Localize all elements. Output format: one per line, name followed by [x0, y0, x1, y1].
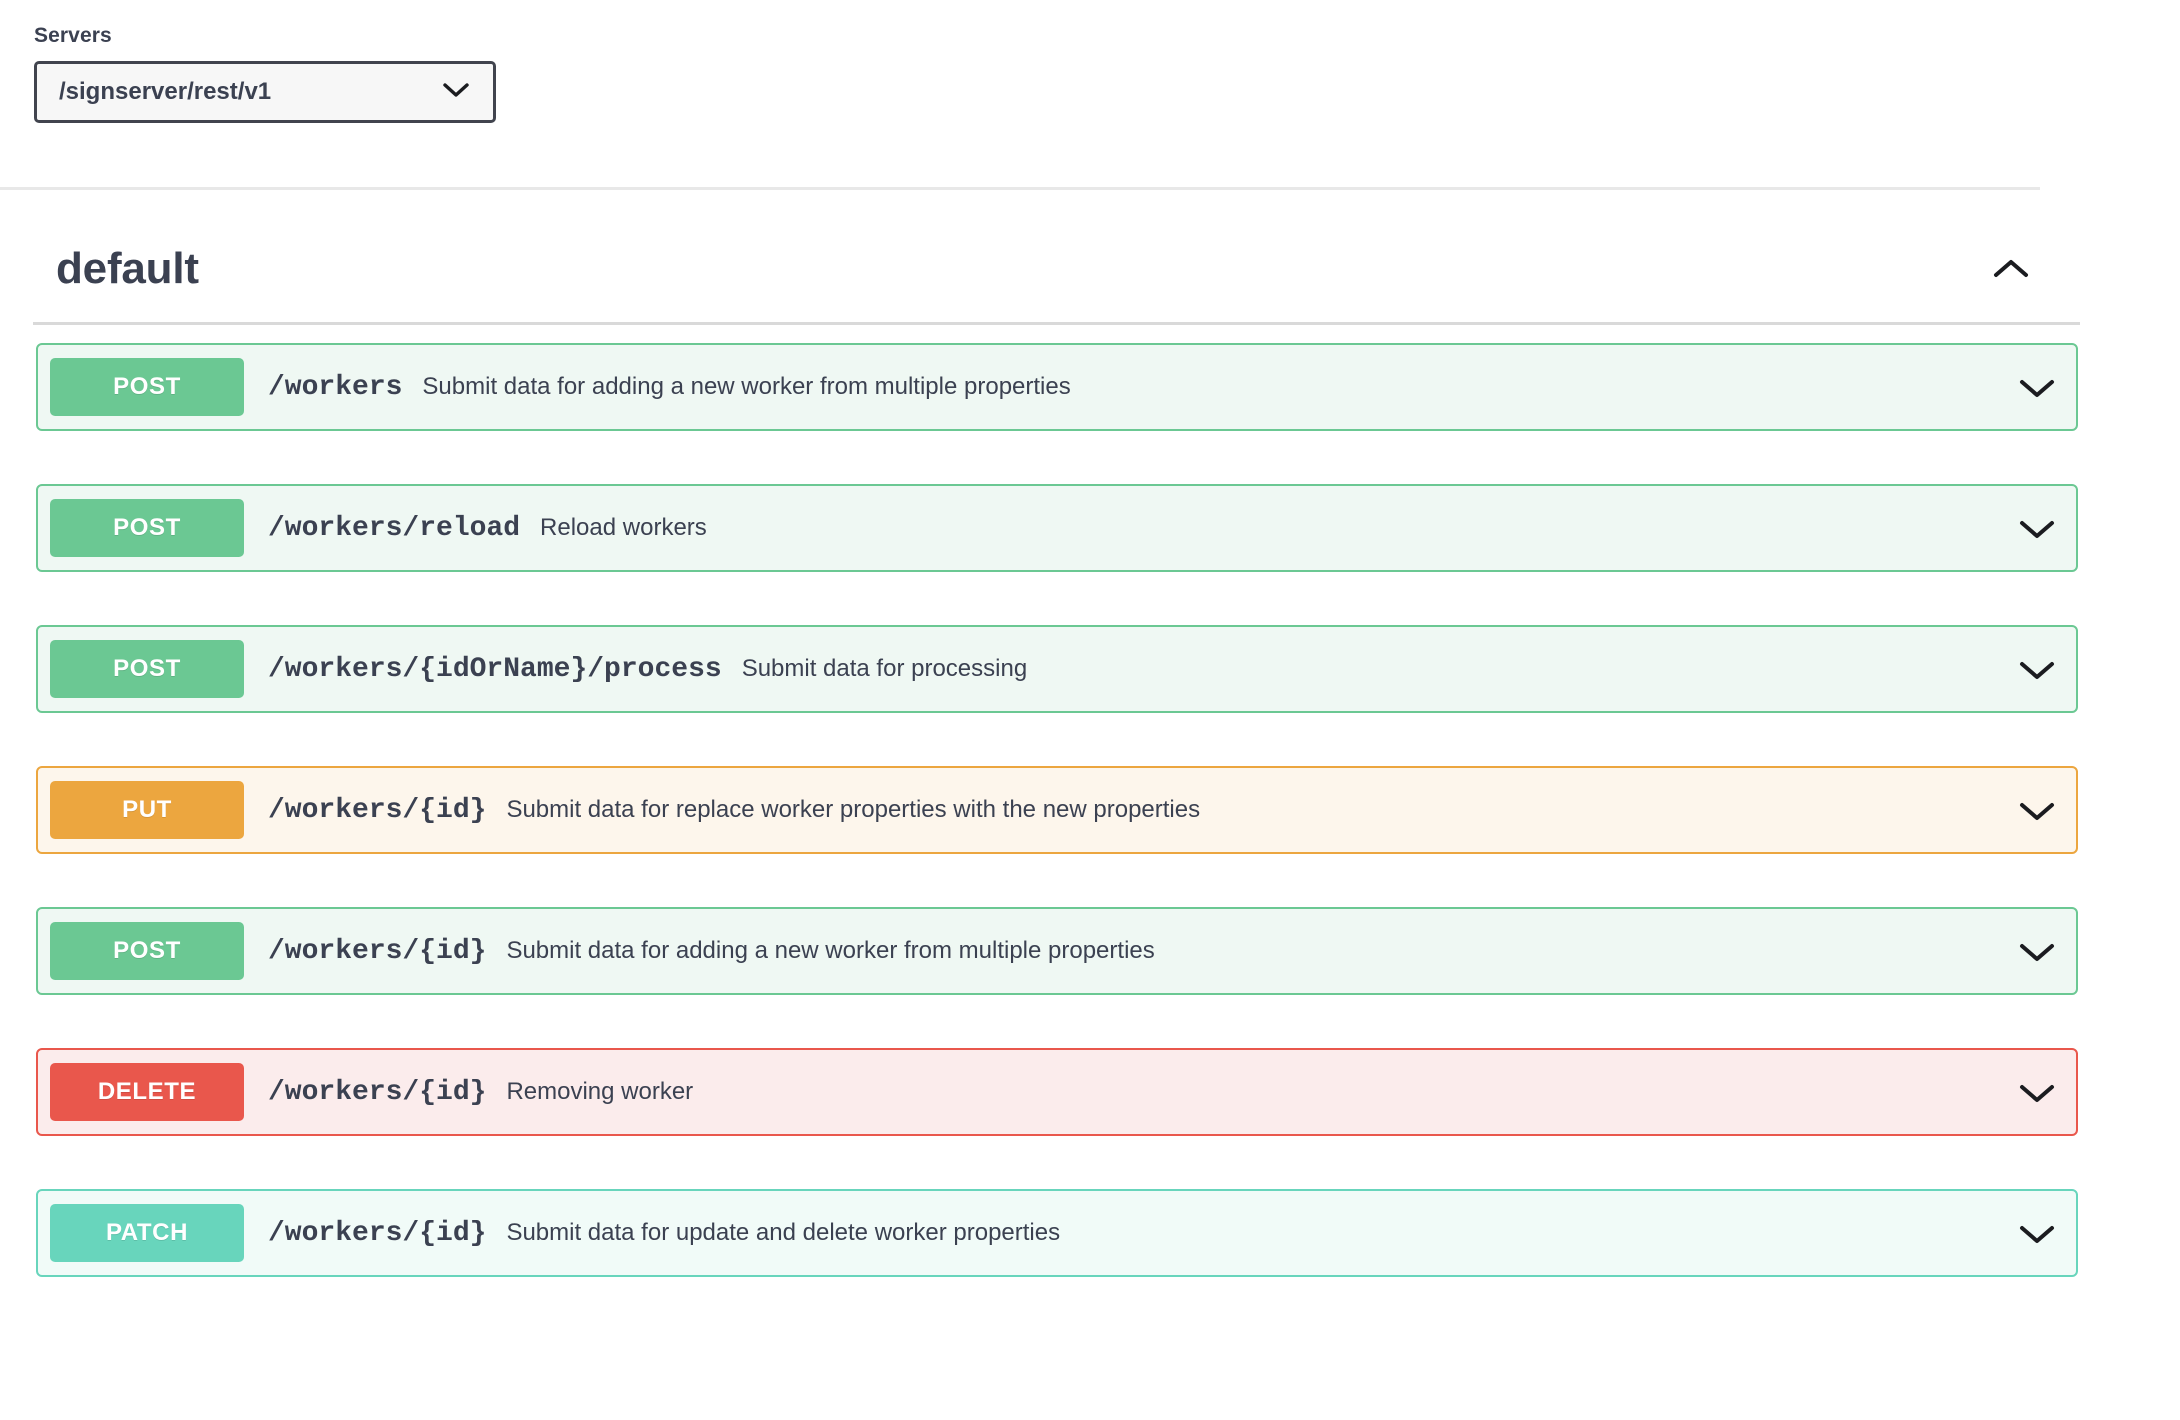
- chevron-up-icon[interactable]: [1974, 255, 2048, 283]
- operation-path: /workers/{id}: [268, 1218, 486, 1249]
- servers-label: Servers: [34, 24, 2180, 48]
- operation-row[interactable]: POST/workers/{id}Submit data for adding …: [36, 907, 2078, 995]
- chevron-down-icon[interactable]: [1998, 373, 2076, 401]
- operations-list: POST/workersSubmit data for adding a new…: [0, 325, 2180, 1277]
- chevron-down-icon[interactable]: [1998, 937, 2076, 965]
- servers-block: Servers /signserver/rest/v1: [0, 0, 2180, 123]
- chevron-down-icon: [441, 80, 471, 105]
- operation-path: /workers/{idOrName}/process: [268, 654, 722, 685]
- http-method-badge: POST: [50, 922, 244, 980]
- operation-summary: Submit data for processing: [742, 655, 1998, 683]
- operation-summary: Reload workers: [540, 514, 1998, 542]
- server-select-value: /signserver/rest/v1: [59, 78, 441, 106]
- chevron-down-icon[interactable]: [1998, 796, 2076, 824]
- chevron-down-icon[interactable]: [1998, 655, 2076, 683]
- tag-section-default: default POST/workersSubmit data for addi…: [0, 226, 2180, 1277]
- operation-row[interactable]: PATCH/workers/{id}Submit data for update…: [36, 1189, 2078, 1277]
- operation-summary: Removing worker: [506, 1078, 1998, 1106]
- operation-summary: Submit data for replace worker propertie…: [506, 796, 1998, 824]
- tag-section-header[interactable]: default: [0, 226, 2048, 312]
- operation-path: /workers/reload: [268, 513, 520, 544]
- operation-row[interactable]: POST/workers/{idOrName}/processSubmit da…: [36, 625, 2078, 713]
- chevron-down-icon[interactable]: [1998, 1078, 2076, 1106]
- operation-row[interactable]: POST/workers/reloadReload workers: [36, 484, 2078, 572]
- operation-summary: Submit data for adding a new worker from…: [422, 373, 1998, 401]
- operation-summary: Submit data for adding a new worker from…: [506, 937, 1998, 965]
- http-method-badge: PATCH: [50, 1204, 244, 1262]
- http-method-badge: PUT: [50, 781, 244, 839]
- tag-title: default: [56, 244, 1974, 294]
- operation-row[interactable]: DELETE/workers/{id}Removing worker: [36, 1048, 2078, 1136]
- server-select[interactable]: /signserver/rest/v1: [34, 61, 496, 123]
- operation-path: /workers/{id}: [268, 1077, 486, 1108]
- http-method-badge: POST: [50, 499, 244, 557]
- chevron-down-icon[interactable]: [1998, 1219, 2076, 1247]
- chevron-down-icon[interactable]: [1998, 514, 2076, 542]
- operation-row[interactable]: POST/workersSubmit data for adding a new…: [36, 343, 2078, 431]
- operation-path: /workers/{id}: [268, 936, 486, 967]
- header-divider: [0, 187, 2040, 190]
- http-method-badge: POST: [50, 640, 244, 698]
- operation-path: /workers/{id}: [268, 795, 486, 826]
- http-method-badge: DELETE: [50, 1063, 244, 1121]
- operation-summary: Submit data for update and delete worker…: [506, 1219, 1998, 1247]
- http-method-badge: POST: [50, 358, 244, 416]
- operation-path: /workers: [268, 372, 402, 403]
- operation-row[interactable]: PUT/workers/{id}Submit data for replace …: [36, 766, 2078, 854]
